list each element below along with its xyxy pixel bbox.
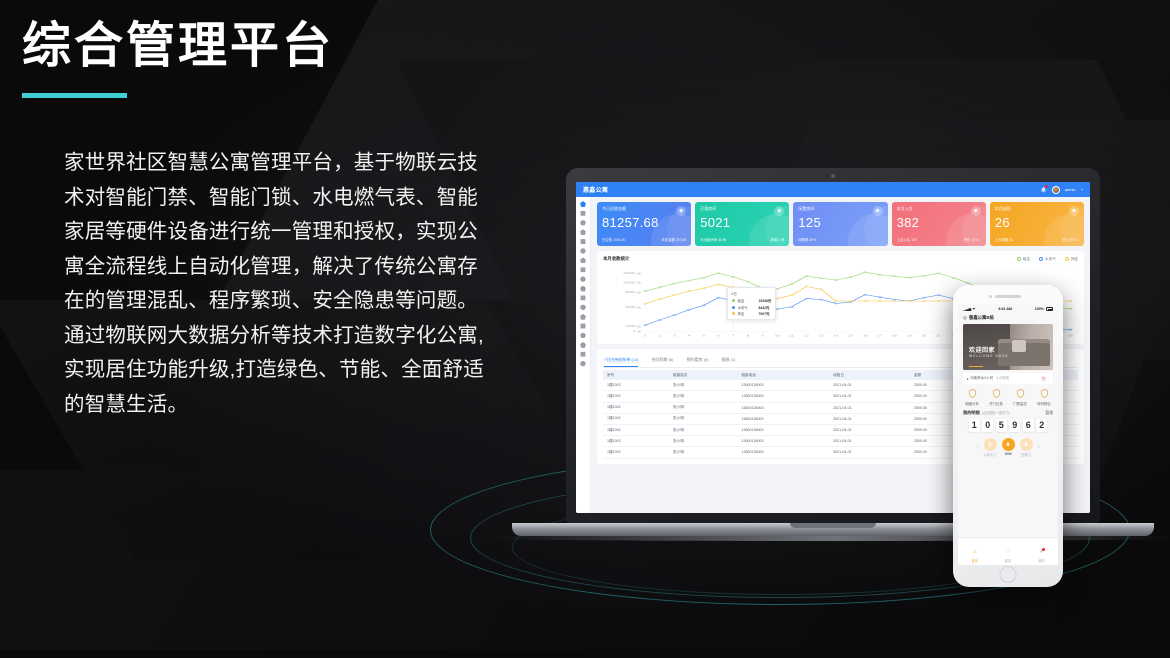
- svg-text:12000 元: 12000 元: [623, 272, 642, 275]
- svg-text:17: 17: [878, 335, 883, 338]
- battery-icon: [1046, 307, 1053, 310]
- table-cell: 张小明: [669, 391, 737, 402]
- table-cell: 1幢1002: [603, 391, 669, 402]
- phone-tab-label: 服务: [991, 558, 1024, 563]
- card-foot-right: 环比 70% ↑: [964, 237, 981, 242]
- card-footer: 上月入住 100环比 70% ↑: [897, 237, 981, 242]
- stat-card[interactable]: ◉闲置房间125闲置率 45%: [793, 202, 887, 246]
- list-icon[interactable]: [580, 361, 586, 367]
- notice-meta: 1小时前: [996, 376, 1009, 381]
- phone-tab[interactable]: ◕我的: [1025, 540, 1058, 563]
- quick-menu-item[interactable]: 明细分享: [960, 388, 984, 406]
- phone-tab-label: 首页: [958, 558, 991, 563]
- column-header: 租客电话: [737, 370, 829, 380]
- dashboard-brand: 惠鑫公寓: [583, 185, 608, 194]
- card-title: 本月退租: [995, 206, 1079, 212]
- calendar-icon[interactable]: [580, 267, 586, 273]
- lock-icon: [1002, 438, 1015, 451]
- legend-item[interactable]: 水电气: [1039, 257, 1056, 262]
- card-footer: 闲置率 45%: [798, 237, 882, 242]
- chart-header: 本月收款统计 租金水电气押金: [603, 256, 1078, 262]
- avatar[interactable]: [1052, 186, 1060, 194]
- notice-tag: 热: [1042, 376, 1046, 382]
- phone-tab[interactable]: ♡服务: [991, 540, 1024, 563]
- card-title: 已租房间: [700, 206, 784, 212]
- stat-card[interactable]: ◉本月入住382上月入住 100环比 70% ↑: [892, 202, 986, 246]
- home-icon: ⌂: [973, 549, 977, 556]
- table-cell: 13800138000: [737, 424, 829, 435]
- svg-text:4: 4: [688, 335, 690, 338]
- bell-icon[interactable]: [1040, 186, 1047, 193]
- card-foot-left: 可出租房间 35 间: [700, 237, 726, 242]
- card-footer: 可出租房间 35 间新增 2 间: [700, 237, 784, 242]
- svg-text:21: 21: [936, 335, 941, 338]
- hero-paragraph: 家世界社区智慧公寓管理平台，基于物联云技术对智能门禁、智能门锁、水电燃气表、智能…: [64, 146, 494, 422]
- svg-text:18: 18: [892, 335, 897, 338]
- table-cell: 张小明: [669, 447, 737, 458]
- table-cell: 2021-04-01: [829, 380, 910, 391]
- table-cell: 2021-04-01: [829, 436, 910, 447]
- column-header: 收租日: [829, 370, 910, 380]
- tooltip-swatch: [732, 299, 735, 302]
- svg-text:0 元: 0 元: [633, 330, 642, 333]
- svg-text:1000 元: 1000 元: [625, 325, 641, 328]
- svg-text:11: 11: [790, 335, 795, 338]
- chart-legend: 租金水电气押金: [1017, 257, 1078, 262]
- table-cell: 1幢1002: [603, 424, 669, 435]
- phone-mockup: ▁▃▅ ᯤ 9:41 AM 100% ◎ 惠鑫公寓B栋 欢迎回家 WELCOME…: [953, 285, 1063, 587]
- table-cell: 13800138000: [737, 447, 829, 458]
- code-digit: 2: [1036, 419, 1047, 432]
- card-foot-right: 未收金额 257.68: [661, 237, 686, 242]
- phone-tab-bar: ⌂首页♡服务◕我的: [958, 537, 1058, 566]
- legend-item[interactable]: 租金: [1017, 257, 1030, 262]
- tab-badge: [1042, 548, 1045, 551]
- phone-location[interactable]: ◎ 惠鑫公寓B栋: [958, 313, 1058, 324]
- banner-cushion: [1012, 340, 1026, 352]
- door-code: 105962: [958, 417, 1058, 435]
- tooltip-row: 水电气8432元: [732, 305, 772, 310]
- svg-text:5000 元: 5000 元: [625, 306, 641, 309]
- svg-text:5: 5: [703, 335, 705, 338]
- key-icon[interactable]: [580, 220, 586, 226]
- legend-swatch: [1017, 257, 1021, 261]
- clipboard-icon[interactable]: [580, 314, 586, 320]
- code-digit: 6: [1023, 419, 1034, 432]
- table-cell: 1幢1002: [603, 436, 669, 447]
- building-icon[interactable]: [580, 210, 586, 216]
- svg-text:1: 1: [644, 335, 646, 338]
- table-cell: 2021-04-01: [829, 402, 910, 413]
- card-foot-left: 上月退租 50: [995, 237, 1013, 242]
- svg-text:3: 3: [673, 335, 675, 338]
- lock-icon: [1020, 438, 1033, 451]
- dashboard-header: 惠鑫公寓 admin ˅: [576, 182, 1090, 197]
- lock-name: 1006: [1002, 452, 1015, 456]
- notice-text: 今晚停水2小时: [970, 376, 994, 381]
- tools-icon[interactable]: [580, 276, 586, 282]
- megaphone-icon[interactable]: [580, 323, 586, 329]
- person-icon: ◕: [1040, 549, 1044, 556]
- chevron-right-icon[interactable]: ›: [1048, 377, 1049, 381]
- legend-swatch: [1039, 257, 1043, 261]
- table-cell: 1幢1002: [603, 380, 669, 391]
- manage-button[interactable]: 管理: [1045, 411, 1053, 416]
- globe-icon[interactable]: [580, 351, 586, 357]
- svg-text:20: 20: [922, 335, 927, 338]
- sidebar: [576, 197, 591, 513]
- table-tab[interactable]: 预约看房 (4): [686, 354, 708, 367]
- table-cell: 张小明: [669, 380, 737, 391]
- chart-title: 本月收款统计: [603, 256, 629, 262]
- home-icon[interactable]: [580, 201, 586, 207]
- tooltip-row: 租金15438元: [732, 298, 772, 303]
- code-digit: 9: [1009, 419, 1020, 432]
- column-header: 房号: [603, 370, 669, 380]
- my-locks-title: 我的明锁: [963, 410, 980, 416]
- location-icon: ◎: [963, 315, 967, 321]
- file-icon[interactable]: [580, 248, 586, 254]
- table-cell: 2021-04-01: [829, 447, 910, 458]
- lock-carousel: ‹ 公寓大门1006西楼门 ›: [958, 435, 1058, 460]
- table-cell: 张小明: [669, 436, 737, 447]
- chart-tooltip: 6日 租金15438元水电气8432元押金7007元: [727, 287, 777, 320]
- phone-screen: ▁▃▅ ᯤ 9:41 AM 100% ◎ 惠鑫公寓B栋 欢迎回家 WELCOME…: [958, 304, 1058, 565]
- code-digit: 5: [996, 419, 1007, 432]
- table-cell: 13800138000: [737, 436, 829, 447]
- tooltip-row: 押金7007元: [732, 311, 772, 316]
- table-cell: 13800138000: [737, 391, 829, 402]
- tooltip-name: 租金: [738, 298, 756, 303]
- my-locks-subtitle: (点击图标一键开门): [982, 410, 1010, 415]
- table-cell: 13800138000: [737, 402, 829, 413]
- laptop-notch: [790, 523, 876, 528]
- svg-text:2: 2: [659, 335, 661, 338]
- card-foot-right: 环比 40% ↓: [1062, 237, 1079, 242]
- svg-text:9: 9: [761, 335, 763, 338]
- table-tab[interactable]: 报修 (1): [721, 354, 735, 367]
- banner-text: 欢迎回家 WELCOME BACK: [969, 345, 1009, 358]
- phone-tab-label: 我的: [1025, 558, 1058, 563]
- stat-cards: ◉今日应收金额81257.68日应收 1000.00未收金额 257.68◉已租…: [597, 202, 1084, 246]
- laptop-shadow: [493, 536, 1170, 541]
- card-foot-left: 上月入住 100: [897, 237, 917, 242]
- briefcase-icon[interactable]: [580, 239, 586, 245]
- card-title: 闲置房间: [798, 206, 882, 212]
- phone-tab[interactable]: ⌂首页: [958, 540, 991, 563]
- table-cell: 张小明: [669, 413, 737, 424]
- svg-text:16: 16: [863, 335, 868, 338]
- lock-icon: [984, 438, 997, 451]
- table-cell: 1幢1002: [603, 447, 669, 458]
- title-underline: [22, 93, 127, 98]
- legend-label: 租金: [1023, 257, 1030, 262]
- lock-name: 西楼门: [1020, 452, 1033, 457]
- card-foot-left: 闲置率 45%: [798, 237, 816, 242]
- phone-status-bar: ▁▃▅ ᯤ 9:41 AM 100%: [958, 304, 1058, 313]
- legend-label: 押金: [1071, 257, 1078, 262]
- lock-button[interactable]: 西楼门: [1020, 438, 1033, 458]
- svg-text:8000 元: 8000 元: [625, 291, 641, 294]
- table-cell: 张小明: [669, 424, 737, 435]
- tooltip-name: 水电气: [738, 305, 756, 310]
- call-icon: [1039, 388, 1050, 399]
- legend-swatch: [1065, 257, 1069, 261]
- hero-copy: 综合管理平台 家世界社区智慧公寓管理平台，基于物联云技术对智能门禁、智能门锁、水…: [22, 18, 522, 422]
- table-tab[interactable]: 7日内待收账单 (10): [604, 354, 638, 367]
- table-cell: 13800138000: [737, 380, 829, 391]
- banner-indicator: [969, 366, 983, 368]
- table-tab[interactable]: 合同到期 (6): [651, 354, 673, 367]
- user-name[interactable]: admin: [1065, 187, 1076, 192]
- svg-text:14: 14: [834, 335, 839, 338]
- card-foot-right: 新增 2 间: [770, 237, 784, 242]
- status-time: 9:41 AM: [998, 307, 1012, 311]
- card-foot-left: 日应收 1000.00: [602, 237, 625, 242]
- tooltip-swatch: [732, 312, 735, 315]
- svg-text:30: 30: [1068, 335, 1073, 338]
- phone-speaker: [995, 295, 1021, 298]
- header-actions: admin ˅: [1040, 186, 1083, 194]
- stat-card[interactable]: ◉今日应收金额81257.68日应收 1000.00未收金额 257.68: [597, 202, 691, 246]
- quick-menu: 明细分享开门记录门禁监控呼叫物业: [960, 388, 1056, 406]
- quick-menu-item[interactable]: 开门记录: [984, 388, 1008, 406]
- tooltip-value: 8432元: [759, 305, 770, 310]
- notice-bar[interactable]: ▸ 今晚停水2小时 1小时前 热 ›: [963, 373, 1053, 384]
- user-icon[interactable]: [580, 229, 586, 235]
- banner-title: 欢迎回家: [969, 345, 1009, 354]
- flag-icon[interactable]: [580, 342, 586, 348]
- legend-label: 水电气: [1045, 257, 1056, 262]
- svg-text:10000 元: 10000 元: [623, 282, 642, 285]
- meter-icon[interactable]: [580, 332, 586, 338]
- device-icon[interactable]: [580, 304, 586, 310]
- home-button[interactable]: [1000, 566, 1017, 583]
- tooltip-value: 7007元: [759, 311, 770, 316]
- column-header: 租客姓名: [669, 370, 737, 380]
- svg-text:7: 7: [732, 335, 734, 338]
- heart-icon: ♡: [1005, 549, 1010, 556]
- stat-card[interactable]: ◉本月退租26上月退租 50环比 40% ↓: [990, 202, 1084, 246]
- legend-item[interactable]: 押金: [1065, 257, 1078, 262]
- table-cell: 1幢1002: [603, 402, 669, 413]
- tooltip-swatch: [732, 306, 735, 309]
- quick-menu-item[interactable]: 呼叫物业: [1032, 388, 1056, 406]
- svg-text:13: 13: [819, 335, 824, 338]
- svg-text:6: 6: [717, 335, 719, 338]
- svg-text:10: 10: [775, 335, 780, 338]
- phone-camera-icon: [989, 295, 992, 298]
- my-locks-header: 我的明锁 (点击图标一键开门) 管理: [958, 406, 1058, 417]
- tooltip-header: 6日: [732, 291, 772, 296]
- gear-icon[interactable]: [580, 286, 586, 292]
- quick-menu-item[interactable]: 门禁监控: [1008, 388, 1032, 406]
- shield-icon: [967, 388, 978, 399]
- code-digit: 0: [982, 419, 993, 432]
- card-footer: 日应收 1000.00未收金额 257.68: [602, 237, 686, 242]
- stat-card[interactable]: ◉已租房间5021可出租房间 35 间新增 2 间: [695, 202, 789, 246]
- history-icon: [991, 388, 1002, 399]
- chevron-down-icon[interactable]: ˅: [1081, 187, 1083, 192]
- svg-text:15: 15: [848, 335, 853, 338]
- code-digit: 1: [969, 419, 980, 432]
- webcam-icon: [831, 174, 835, 178]
- chart-icon[interactable]: [580, 257, 586, 263]
- tooltip-name: 押金: [738, 311, 756, 316]
- banner-subtitle: WELCOME BACK: [969, 354, 1009, 358]
- chevron-left-icon[interactable]: ‹: [977, 444, 979, 450]
- svg-text:12: 12: [804, 335, 809, 338]
- svg-text:8: 8: [747, 335, 749, 338]
- monitor-icon: [1015, 388, 1026, 399]
- welcome-banner[interactable]: 欢迎回家 WELCOME BACK: [963, 324, 1053, 370]
- lock-name: 公寓大门: [984, 452, 997, 457]
- location-label: 惠鑫公寓B栋: [969, 315, 994, 321]
- table-cell: 1幢1002: [603, 413, 669, 424]
- notification-badge: [1045, 185, 1048, 188]
- page-title: 综合管理平台: [22, 18, 522, 74]
- battery-percent: 100%: [1035, 307, 1044, 311]
- card-title: 今日应收金额: [602, 206, 686, 212]
- lock-button[interactable]: 公寓大门: [984, 438, 997, 458]
- signal-icon: ▁▃▅ ᯤ: [963, 307, 976, 312]
- table-cell: 张小明: [669, 402, 737, 413]
- table-cell: 2021-04-01: [829, 424, 910, 435]
- lock-icon[interactable]: [580, 295, 586, 301]
- table-cell: 2021-04-01: [829, 391, 910, 402]
- card-footer: 上月退租 50环比 40% ↓: [995, 237, 1079, 242]
- svg-text:19: 19: [907, 335, 912, 338]
- table-cell: 13800138000: [737, 413, 829, 424]
- tooltip-value: 15438元: [759, 298, 772, 303]
- table-cell: 2021-04-01: [829, 413, 910, 424]
- chevron-right-icon[interactable]: ›: [1038, 444, 1040, 450]
- card-title: 本月入住: [897, 206, 981, 212]
- lock-button[interactable]: 1006: [1002, 438, 1015, 458]
